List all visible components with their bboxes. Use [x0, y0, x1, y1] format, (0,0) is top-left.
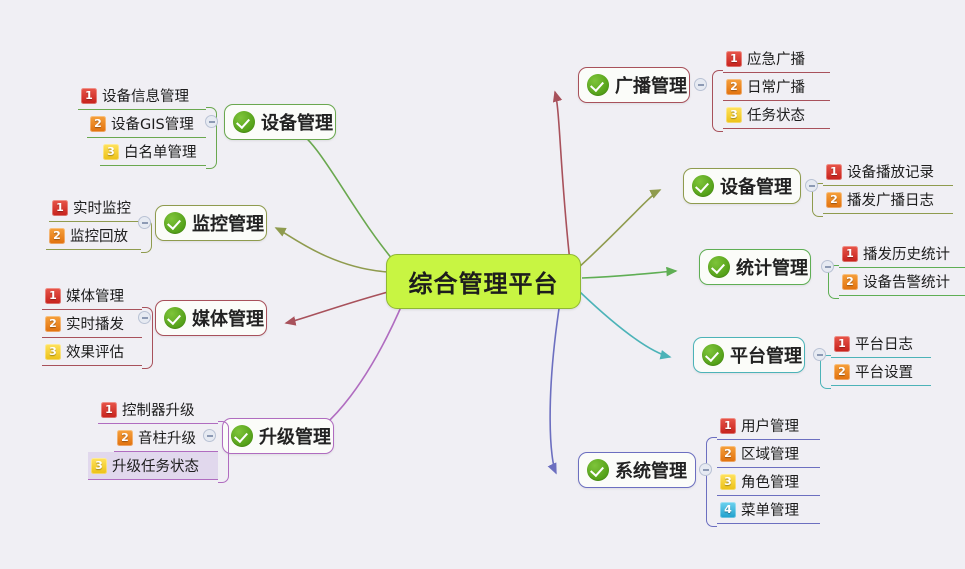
child-group-system-management: 1用户管理2区域管理3角色管理4菜单管理	[706, 412, 820, 524]
branch-edge	[582, 271, 676, 278]
branch-edge	[580, 292, 670, 357]
child-item[interactable]: 3效果评估	[42, 338, 142, 366]
item-index-badge: 3	[720, 474, 736, 490]
item-index-badge: 2	[45, 316, 61, 332]
collapse-toggle-device-management-right[interactable]	[805, 179, 818, 192]
child-item-label: 白名单管理	[124, 141, 197, 162]
branch-node-label: 系统管理	[615, 457, 687, 483]
central-topic[interactable]: 综合管理平台	[386, 254, 581, 309]
item-index-badge: 3	[726, 107, 742, 123]
branch-node-media-management[interactable]: 媒体管理	[155, 300, 267, 336]
child-item-label: 设备信息管理	[102, 85, 189, 106]
item-index-badge: 2	[726, 79, 742, 95]
branch-node-label: 监控管理	[192, 210, 264, 236]
child-item[interactable]: 3升级任务状态	[88, 452, 218, 480]
check-circle-icon	[587, 74, 609, 96]
child-item[interactable]: 2区域管理	[717, 440, 820, 468]
child-item-label: 用户管理	[741, 415, 799, 436]
check-circle-icon	[164, 212, 186, 234]
child-item-label: 升级任务状态	[112, 455, 199, 476]
child-item[interactable]: 1设备播放记录	[823, 158, 953, 186]
child-item-label: 媒体管理	[66, 285, 124, 306]
child-item[interactable]: 3白名单管理	[100, 138, 206, 166]
branch-node-label: 平台管理	[730, 342, 802, 368]
item-index-badge: 2	[49, 228, 65, 244]
check-circle-icon	[164, 307, 186, 329]
child-item[interactable]: 1应急广播	[723, 45, 830, 73]
child-item[interactable]: 1播发历史统计	[839, 240, 965, 268]
child-item[interactable]: 2平台设置	[831, 358, 931, 386]
child-item[interactable]: 1实时监控	[49, 194, 141, 222]
child-item-label: 控制器升级	[122, 399, 195, 420]
child-item[interactable]: 1平台日志	[831, 330, 931, 358]
item-index-badge: 1	[826, 164, 842, 180]
child-item-label: 菜单管理	[741, 499, 799, 520]
child-item-label: 监控回放	[70, 225, 128, 246]
item-index-badge: 1	[834, 336, 850, 352]
child-item[interactable]: 2音柱升级	[114, 424, 218, 452]
child-item-label: 设备播放记录	[847, 161, 934, 182]
child-group-device-management-right: 1设备播放记录2播发广播日志	[812, 158, 953, 214]
collapse-toggle-upgrade-management[interactable]	[203, 429, 216, 442]
child-item-label: 播发广播日志	[847, 189, 934, 210]
check-circle-icon	[708, 256, 730, 278]
item-index-badge: 2	[842, 274, 858, 290]
check-circle-icon	[587, 459, 609, 481]
child-item-label: 播发历史统计	[863, 243, 950, 264]
item-index-badge: 1	[52, 200, 68, 216]
item-index-badge: 3	[91, 458, 107, 474]
child-item[interactable]: 1用户管理	[717, 412, 820, 440]
child-item-label: 实时播发	[66, 313, 124, 334]
child-item[interactable]: 2设备告警统计	[839, 268, 965, 296]
branch-node-upgrade-management[interactable]: 升级管理	[222, 418, 334, 454]
child-item-label: 实时监控	[73, 197, 131, 218]
branch-node-label: 升级管理	[259, 423, 331, 449]
child-group-device-management-left: 1设备信息管理2设备GIS管理3白名单管理	[78, 82, 217, 166]
collapse-toggle-broadcast-management[interactable]	[694, 78, 707, 91]
branch-node-device-management-left[interactable]: 设备管理	[224, 104, 336, 140]
branch-node-label: 设备管理	[720, 173, 792, 199]
child-item[interactable]: 1控制器升级	[98, 396, 218, 424]
check-circle-icon	[692, 175, 714, 197]
child-item-label: 效果评估	[66, 341, 124, 362]
collapse-toggle-monitor-management[interactable]	[138, 216, 151, 229]
collapse-toggle-media-management[interactable]	[138, 311, 151, 324]
collapse-toggle-statistics-management[interactable]	[821, 260, 834, 273]
item-index-badge: 2	[117, 430, 133, 446]
child-group-statistics-management: 1播发历史统计2设备告警统计	[828, 240, 965, 296]
branch-node-device-management-right[interactable]: 设备管理	[683, 168, 801, 204]
item-index-badge: 2	[826, 192, 842, 208]
child-item[interactable]: 1媒体管理	[42, 282, 142, 310]
child-item-label: 日常广播	[747, 76, 805, 97]
child-item-label: 任务状态	[747, 104, 805, 125]
collapse-toggle-platform-management[interactable]	[813, 348, 826, 361]
child-item[interactable]: 2日常广播	[723, 73, 830, 101]
child-item-label: 设备GIS管理	[111, 113, 194, 134]
branch-node-label: 广播管理	[615, 72, 687, 98]
child-item[interactable]: 2实时播发	[42, 310, 142, 338]
branch-node-platform-management[interactable]: 平台管理	[693, 337, 805, 373]
child-group-platform-management: 1平台日志2平台设置	[820, 330, 931, 386]
branch-node-statistics-management[interactable]: 统计管理	[699, 249, 811, 285]
child-item[interactable]: 3角色管理	[717, 468, 820, 496]
child-group-media-management: 1媒体管理2实时播发3效果评估	[42, 282, 153, 366]
branch-node-broadcast-management[interactable]: 广播管理	[578, 67, 690, 103]
child-item-label: 平台日志	[855, 333, 913, 354]
branch-node-system-management[interactable]: 系统管理	[578, 452, 696, 488]
child-group-monitor-management: 1实时监控2监控回放	[46, 194, 152, 250]
branch-edge	[550, 302, 560, 473]
branch-edge	[276, 228, 388, 272]
central-topic-label: 综合管理平台	[409, 264, 559, 299]
mindmap-canvas: 综合管理平台 设备管理监控管理媒体管理升级管理广播管理设备管理统计管理平台管理系…	[0, 0, 965, 569]
branch-edge	[555, 92, 570, 262]
child-item[interactable]: 2设备GIS管理	[87, 110, 206, 138]
child-item[interactable]: 4菜单管理	[717, 496, 820, 524]
branch-edge	[293, 128, 398, 266]
child-item[interactable]: 1设备信息管理	[78, 82, 206, 110]
item-index-badge: 1	[720, 418, 736, 434]
collapse-toggle-device-management-left[interactable]	[205, 115, 218, 128]
item-index-badge: 1	[842, 246, 858, 262]
item-index-badge: 1	[45, 288, 61, 304]
branch-node-monitor-management[interactable]: 监控管理	[155, 205, 267, 241]
branch-node-label: 设备管理	[261, 109, 333, 135]
branch-edge	[286, 292, 388, 323]
branch-node-label: 媒体管理	[192, 305, 264, 331]
child-item-label: 区域管理	[741, 443, 799, 464]
item-index-badge: 4	[720, 502, 736, 518]
item-index-badge: 2	[834, 364, 850, 380]
branch-edge	[578, 190, 660, 268]
item-index-badge: 2	[90, 116, 106, 132]
child-item-label: 角色管理	[741, 471, 799, 492]
check-circle-icon	[702, 344, 724, 366]
child-item[interactable]: 2播发广播日志	[823, 186, 953, 214]
child-item-label: 音柱升级	[138, 427, 196, 448]
check-circle-icon	[233, 111, 255, 133]
item-index-badge: 1	[101, 402, 117, 418]
item-index-badge: 1	[81, 88, 97, 104]
child-item-label: 应急广播	[747, 48, 805, 69]
item-index-badge: 2	[720, 446, 736, 462]
child-item-label: 平台设置	[855, 361, 913, 382]
collapse-toggle-system-management[interactable]	[699, 463, 712, 476]
item-index-badge: 3	[45, 344, 61, 360]
branch-node-label: 统计管理	[736, 254, 808, 280]
item-index-badge: 1	[726, 51, 742, 67]
child-item[interactable]: 3任务状态	[723, 101, 830, 129]
child-item[interactable]: 2监控回放	[46, 222, 141, 250]
child-group-broadcast-management: 1应急广播2日常广播3任务状态	[712, 45, 830, 129]
child-item-label: 设备告警统计	[863, 271, 950, 292]
item-index-badge: 3	[103, 144, 119, 160]
check-circle-icon	[231, 425, 253, 447]
